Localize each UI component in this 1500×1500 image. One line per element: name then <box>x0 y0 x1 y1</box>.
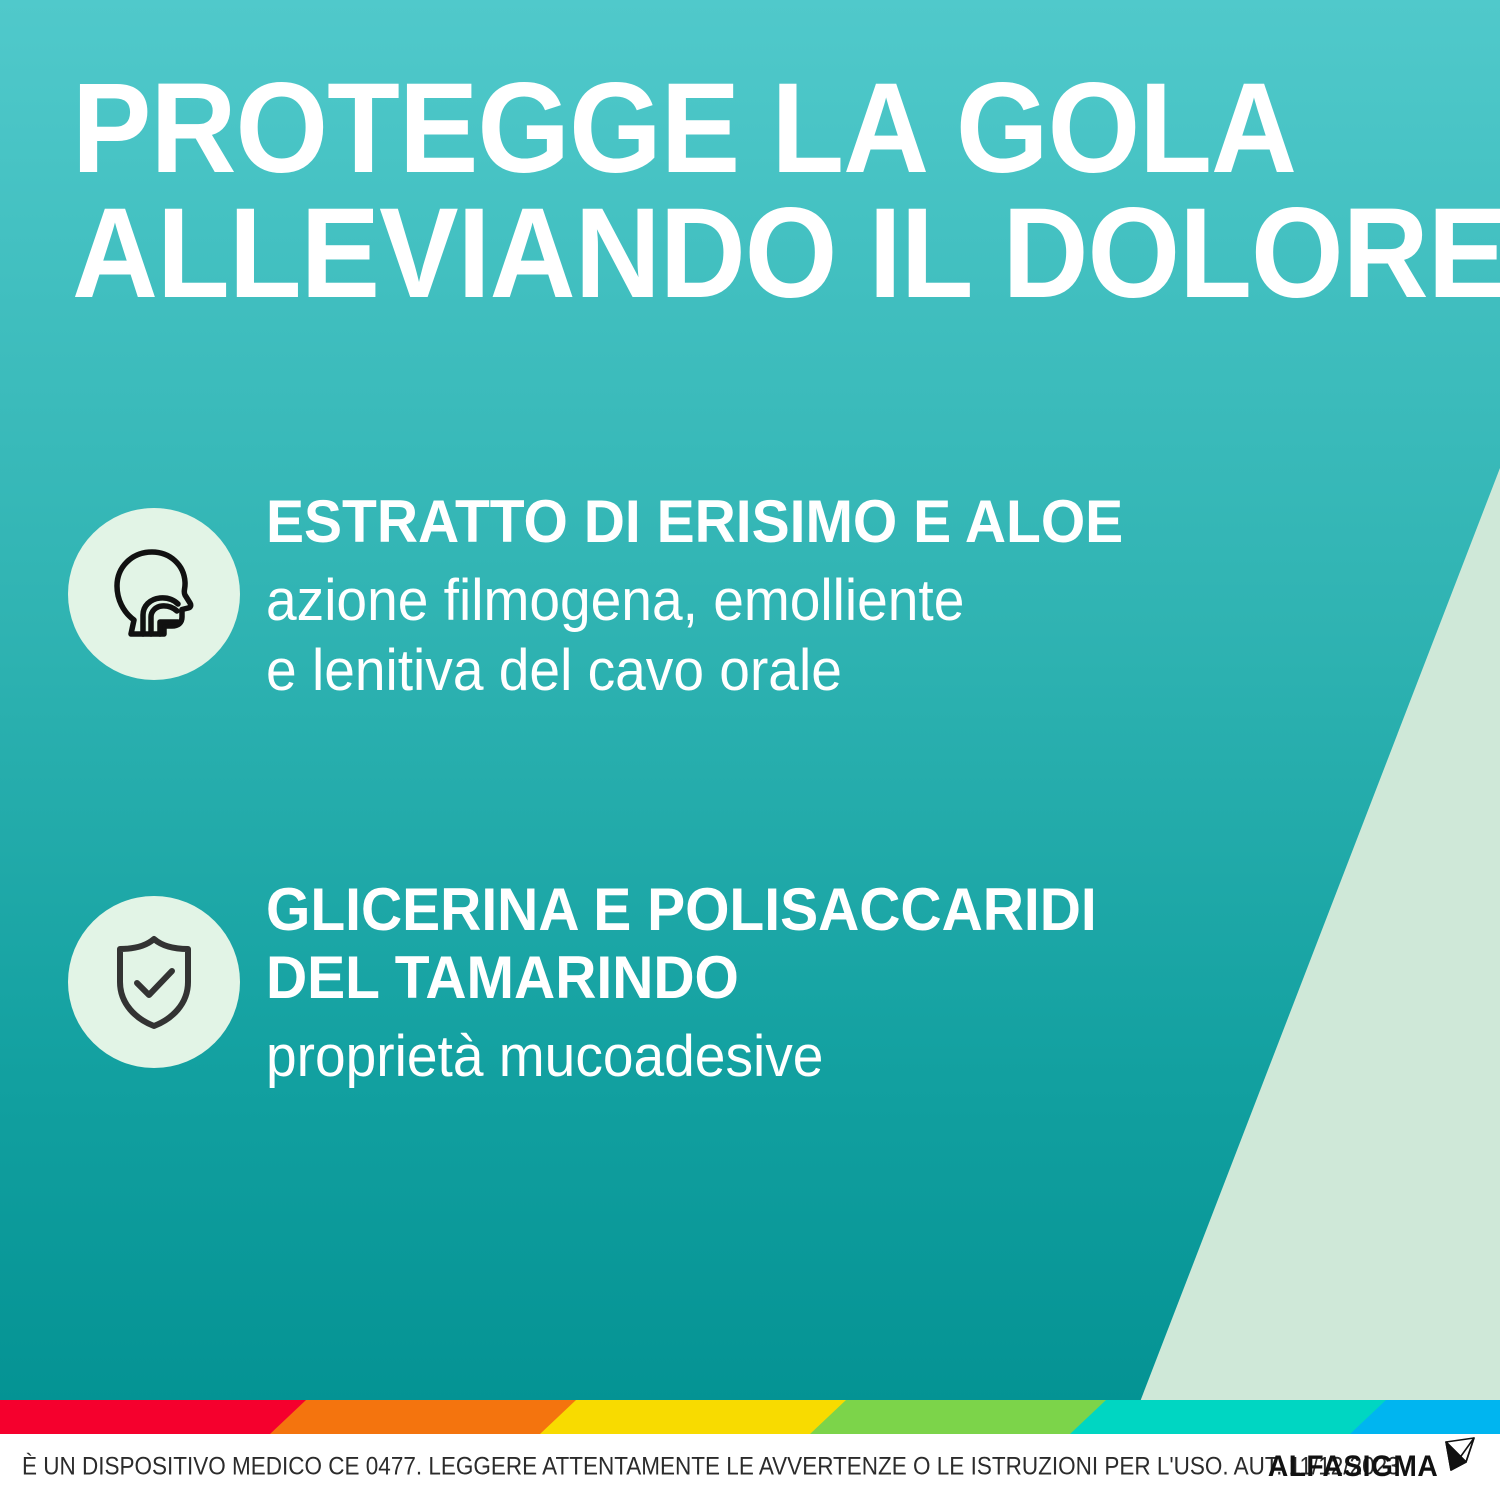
rainbow-segment-red <box>0 1400 306 1434</box>
page-title: PROTEGGE LA GOLA ALLEVIANDO IL DOLORE <box>72 66 1374 317</box>
promo-poster: PROTEGGE LA GOLA ALLEVIANDO IL DOLORE ES… <box>0 0 1500 1500</box>
feature-text-glicerina-tamarindo: GLICERINA E POLISACCARIDI DEL TAMARINDO … <box>266 868 1140 1092</box>
feature-title: GLICERINA E POLISACCARIDI DEL TAMARINDO <box>266 876 1097 1013</box>
feature-subtitle: proprietà mucoadesive <box>266 1022 1097 1092</box>
feature-item-erisimo-aloe: ESTRATTO DI ERISIMO E ALOE azione filmog… <box>0 480 1240 706</box>
head-throat-icon <box>68 508 240 680</box>
feature-list: ESTRATTO DI ERISIMO E ALOE azione filmog… <box>0 480 1240 1092</box>
feature-subtitle: azione filmogena, emolliente e lenitiva … <box>266 566 1123 705</box>
feature-title: ESTRATTO DI ERISIMO E ALOE <box>266 488 1123 556</box>
brand-logo: ALFASIGMA <box>1257 1450 1480 1484</box>
headline-line-2: ALLEVIANDO IL DOLORE <box>72 191 1374 316</box>
rainbow-stripe <box>0 1400 1500 1434</box>
footer-bar: È UN DISPOSITIVO MEDICO CE 0477. LEGGERE… <box>0 1434 1500 1500</box>
shield-check-icon <box>68 896 240 1068</box>
feature-text-erisimo-aloe: ESTRATTO DI ERISIMO E ALOE azione filmog… <box>266 480 1168 706</box>
brand-name-label: ALFASIGMA <box>1268 1450 1438 1484</box>
diamond-icon <box>1440 1436 1480 1483</box>
legal-disclaimer: È UN DISPOSITIVO MEDICO CE 0477. LEGGERE… <box>22 1453 1400 1482</box>
headline-line-1: PROTEGGE LA GOLA <box>72 66 1374 191</box>
feature-item-glicerina-tamarindo: GLICERINA E POLISACCARIDI DEL TAMARINDO … <box>0 868 1240 1092</box>
